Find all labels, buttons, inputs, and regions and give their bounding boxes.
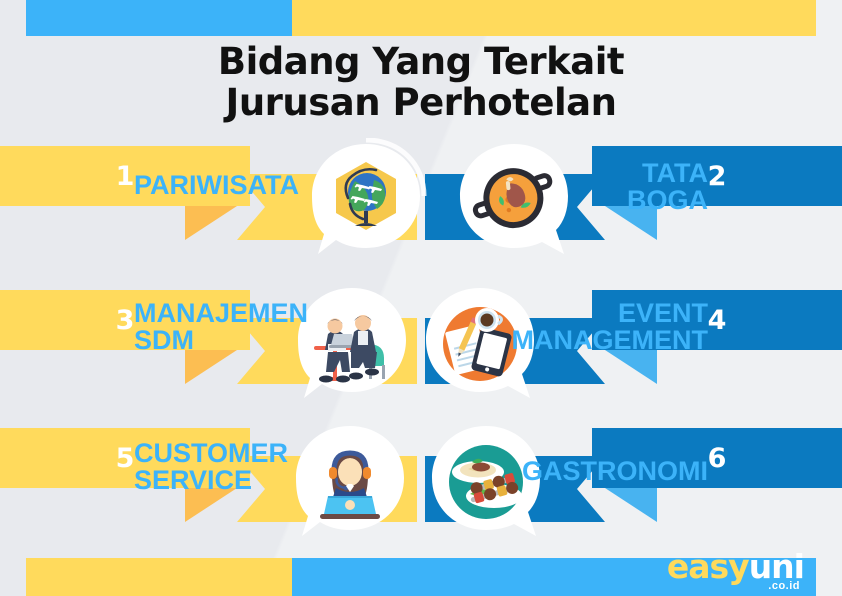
icon-bubble-3: [290, 282, 414, 406]
ribbon-fold-3: [185, 350, 237, 384]
bottom-bar-left-yellow: [26, 558, 292, 596]
item-label-6: GASTRONOMI: [522, 458, 708, 485]
title-line-1: Bidang Yang Terkait: [218, 40, 624, 83]
page-title: Bidang Yang Terkait Jurusan Perhotelan: [0, 42, 842, 123]
top-bar-right-yellow: [292, 0, 816, 36]
title-line-2: Jurusan Perhotelan: [0, 83, 842, 124]
item-label-4: EVENT MANAGEMENT: [512, 300, 709, 354]
item-label-5: CUSTOMER SERVICE: [134, 440, 288, 494]
item-row-2: 3 MANAJEMEN SDM: [0, 282, 842, 412]
paella-pan-icon: [466, 152, 562, 248]
item-row-1: 1 PARIWISATA: [0, 138, 842, 268]
icon-bubble-5: [288, 420, 412, 544]
icon-bubble-2: [452, 138, 576, 262]
item-label-1: PARIWISATA: [134, 172, 299, 199]
gourmet-plates-icon: [438, 434, 534, 530]
icon-bubble-1: [304, 138, 428, 262]
item-row-3: 5 CUSTOMER SERVICE: [0, 420, 842, 550]
item-label-2: TATA BOGA: [627, 160, 708, 214]
infographic-poster: Bidang Yang Terkait Jurusan Perhotelan 1…: [0, 0, 842, 596]
easyuni-logo[interactable]: easyuni .co.id: [667, 550, 804, 592]
ribbon-fold-4: [605, 350, 657, 384]
business-meeting-icon: [304, 296, 400, 392]
ribbon-fold-6: [605, 488, 657, 522]
logo-text-easy: easy: [667, 547, 749, 586]
globe-travel-icon: [318, 152, 414, 248]
item-label-3: MANAJEMEN SDM: [134, 300, 308, 354]
headset-agent-icon: [302, 434, 398, 530]
ribbon-fold-1: [185, 206, 237, 240]
top-bar-left-blue: [26, 0, 292, 36]
